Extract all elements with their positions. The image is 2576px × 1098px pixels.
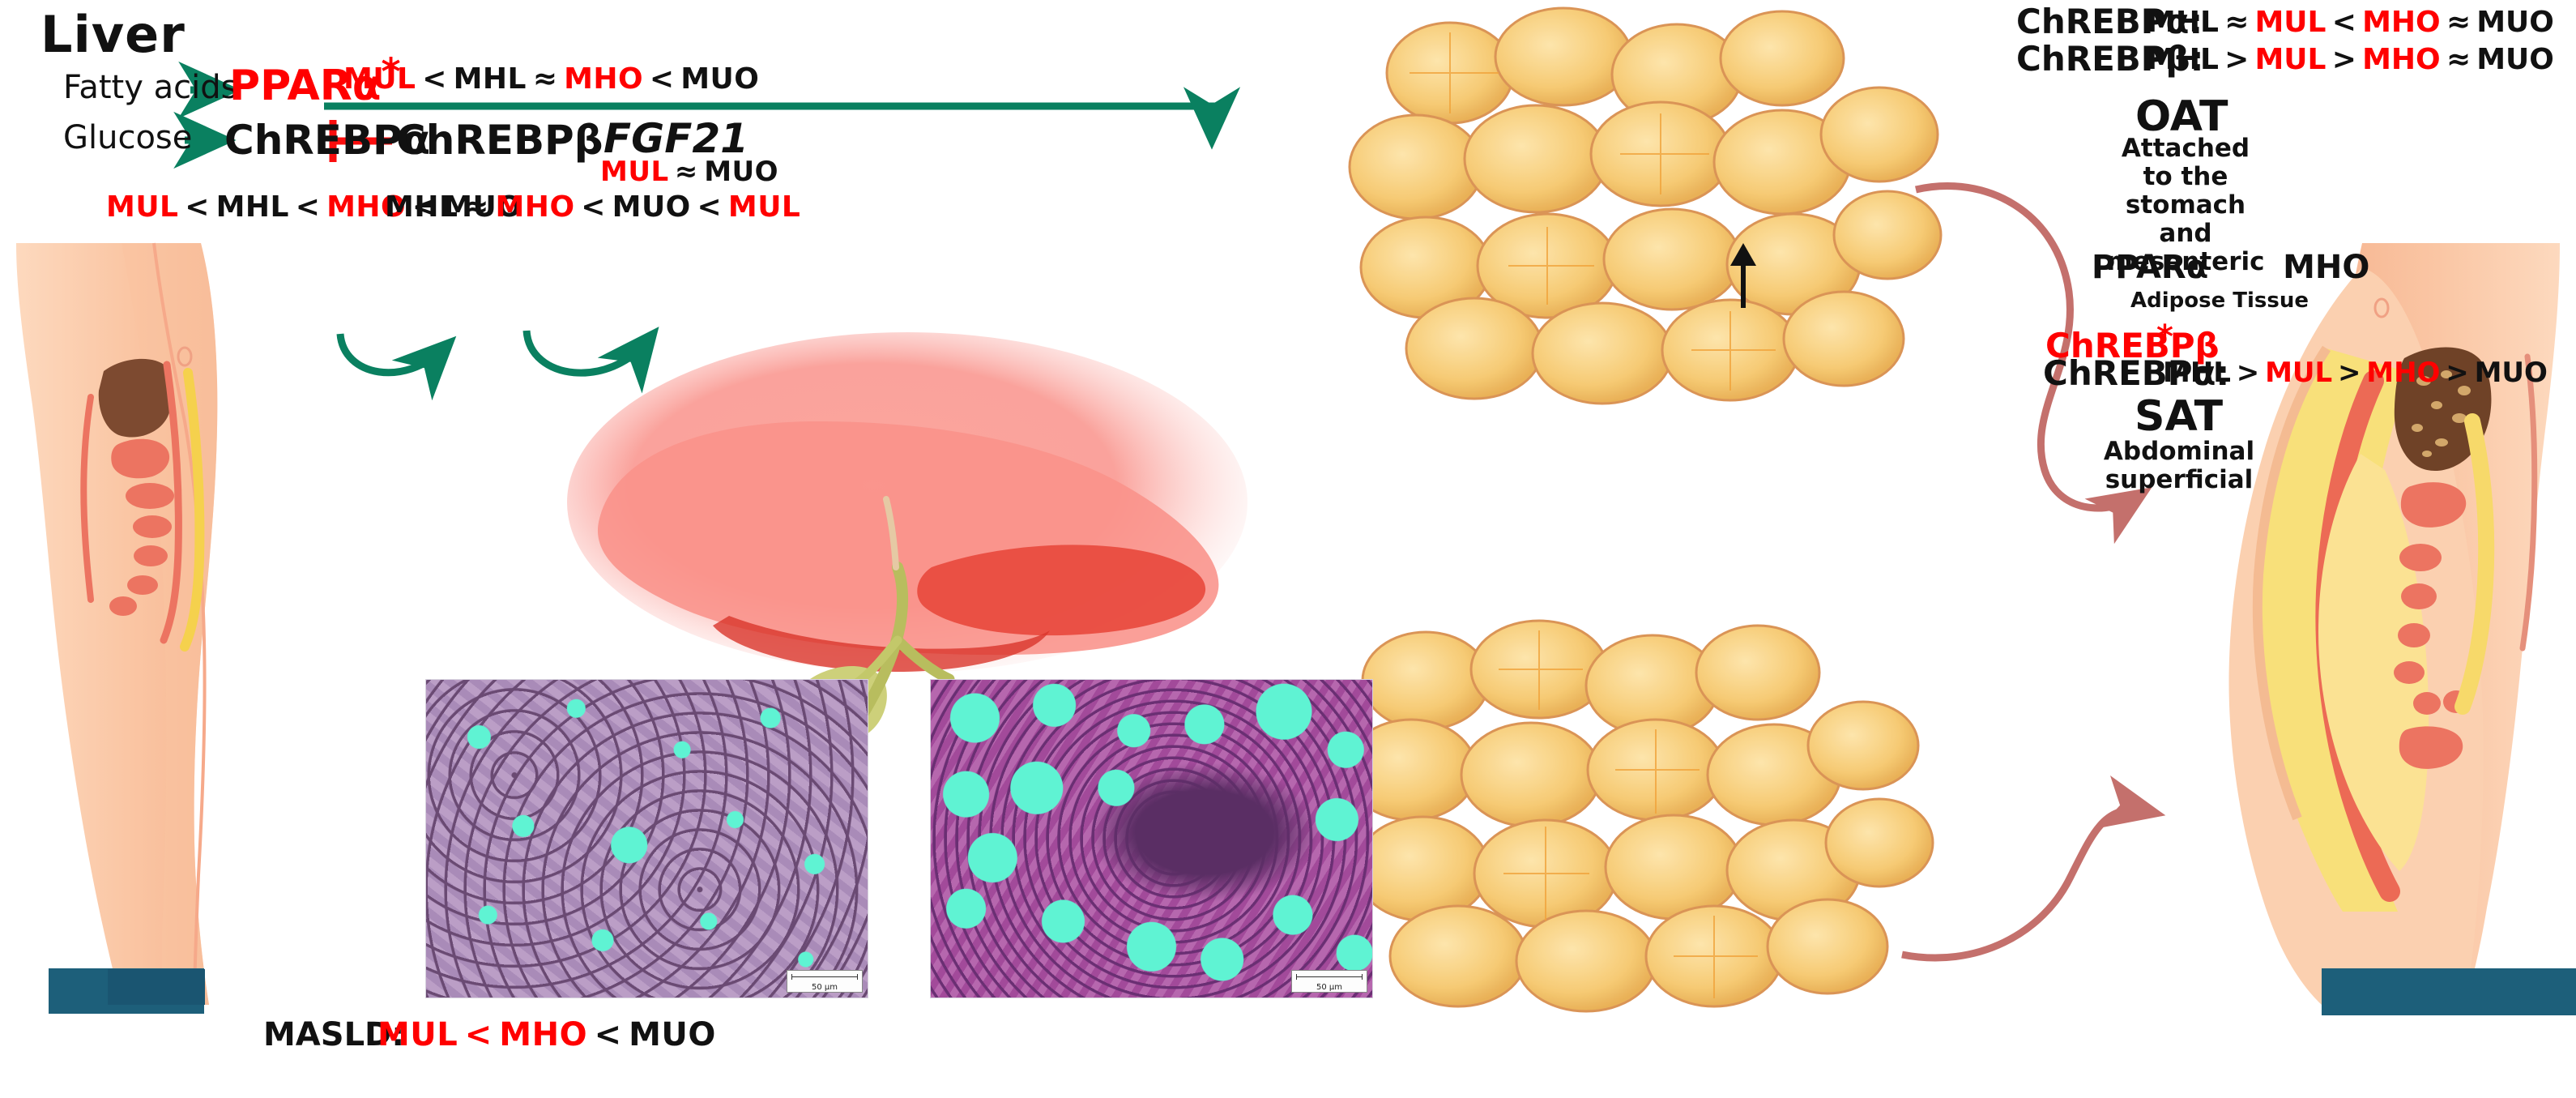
ranking-masld: MUL < MHO < MUO (377, 1019, 716, 1051)
label-glucose: Glucose (63, 122, 192, 154)
rank-token: MHO (499, 1016, 587, 1053)
ppar-alpha-label: PPARα (2092, 249, 2208, 286)
scale-bar-label: 50 μm (1316, 983, 1342, 992)
rank-token: MHO (564, 62, 643, 96)
rank-token: MUL (377, 1016, 458, 1053)
histology-image-normal-liver: 50 μm (425, 679, 868, 998)
rank-token: < (185, 190, 210, 224)
page-title: Liver (41, 10, 186, 60)
adipose-panel: ChREBPα: MHL ≈ MUL < MHO ≈ MUO ChREBPβ: … (1345, 0, 2576, 1098)
rank-token: < (697, 190, 723, 224)
rank-token: < (2332, 6, 2356, 39)
node-chrebp-beta: ChREBPβ (396, 120, 603, 160)
rank-token: < (465, 1016, 493, 1053)
rank-token: MUL (600, 156, 669, 188)
asterisk-marker: * (2156, 321, 2173, 353)
rank-token: MHL (2147, 43, 2219, 76)
rank-token: MUO (2476, 43, 2554, 76)
scale-bar-label: 50 μm (812, 983, 838, 992)
rank-token: MUO (680, 62, 759, 96)
rank-token: MUO (612, 190, 691, 224)
rank-token: > (2332, 43, 2356, 76)
label-fatty-acids: Fatty acids (63, 71, 237, 104)
oat-title: OAT (2135, 96, 2228, 138)
rank-token: MUL (106, 190, 179, 224)
rank-token: < (296, 190, 321, 224)
rank-token: MHO (2362, 6, 2441, 39)
ranking-ppar-alpha-liver: MUL < MHL ≈ MHO < MUO (343, 65, 759, 94)
rank-token: ≈ (2224, 6, 2249, 39)
ranking-chrebp-alpha-adipose: MHL ≈ MUL < MHO ≈ MUO (2147, 8, 2554, 37)
rank-token: MHL (454, 62, 527, 96)
rank-token: < (422, 62, 447, 96)
rank-token: MHL (216, 190, 289, 224)
rank-token: MUL (2254, 43, 2326, 76)
ranking-chrebp-sat: MHL > MUL > MHO > MUO (2163, 359, 2548, 387)
rank-token: < (595, 1016, 622, 1053)
scale-bar: 50 μm (787, 970, 863, 993)
rank-token: ≈ (2446, 6, 2471, 39)
sat-title: SAT (2135, 395, 2223, 438)
rank-token: MUO (629, 1016, 716, 1053)
lean-body-illustration (16, 243, 217, 1014)
node-fgf21: FGF21 (603, 118, 748, 159)
rank-token: MHL (2147, 6, 2219, 39)
adipose-tissue-label: Adipose Tissue (2130, 290, 2309, 311)
ranking-fgf21: MUL ≈ MUO (600, 158, 778, 186)
rank-token: MUL (343, 62, 416, 96)
ppar-alpha-mho-statement: PPARα MHO (2092, 251, 2369, 284)
rank-token: MUO (2475, 357, 2548, 389)
rank-token: > (2446, 357, 2469, 389)
figure-canvas: 50 μm 50 μm down to FGF21 (elbow) --> (0, 0, 2576, 1098)
rank-token: MHO (495, 190, 574, 224)
curved-arrow-icon (340, 334, 444, 373)
ranking-chrebp-beta-liver: MHL ≈ MHO < MUO < MUL (385, 193, 800, 222)
rank-token: ≈ (533, 62, 558, 96)
rank-token: MUL (2265, 357, 2332, 389)
rank-token: MHL (2163, 357, 2231, 389)
mho-label: MHO (2283, 249, 2369, 286)
histology-image-steatotic-liver: 50 μm (930, 679, 1373, 998)
rank-token: MUO (704, 156, 778, 188)
rank-token: > (2338, 357, 2361, 389)
curved-arrow-icon (527, 331, 648, 373)
rank-token: MUL (728, 190, 801, 224)
rank-token: ≈ (675, 156, 698, 188)
ranking-chrebp-beta-adipose: MHL > MUL > MHO ≈ MUO (2147, 45, 2554, 75)
rank-token: > (2237, 357, 2260, 389)
rank-token: MHO (2366, 357, 2440, 389)
rank-token: ≈ (464, 190, 489, 224)
rank-token: > (2224, 43, 2249, 76)
rank-token: MHL (385, 190, 458, 224)
rank-token: < (650, 62, 675, 96)
rank-token: ≈ (2446, 43, 2471, 76)
rank-token: < (581, 190, 606, 224)
sat-subtitle: Abdominal superficial (2098, 438, 2260, 494)
rank-token: MUL (2254, 6, 2326, 39)
rank-token: MHO (2362, 43, 2441, 76)
rank-token: MUO (2476, 6, 2554, 39)
